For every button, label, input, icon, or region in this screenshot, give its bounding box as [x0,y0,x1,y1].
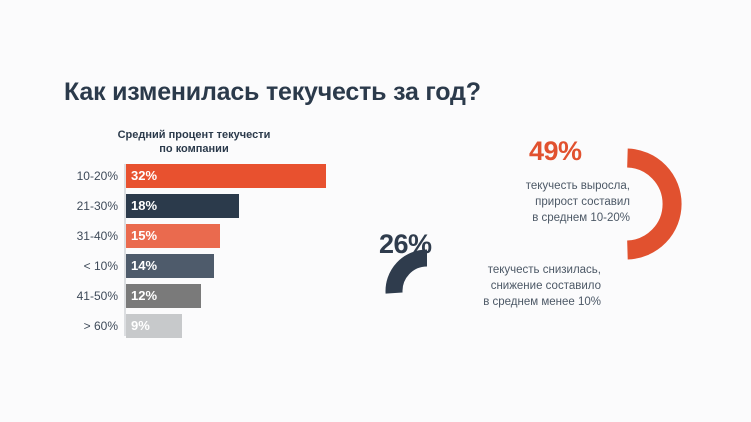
bar-track: 14% [126,254,214,278]
bar-value-label: 12% [131,284,157,308]
bar-chart: 10-20% 32% 21-30% 18% 31-40% 15% < 10% [58,164,348,336]
bar-category-label: > 60% [58,314,118,338]
bar-value-label: 9% [131,314,150,338]
table-row: 10-20% 32% [58,164,348,188]
bar-value-label: 14% [131,254,157,278]
bar-track: 32% [126,164,326,188]
table-row: > 60% 9% [58,314,348,338]
bar-value-label: 32% [131,164,157,188]
bar-category-label: 10-20% [58,164,118,188]
chart-subtitle: Средний процент текучести по компании [96,128,292,156]
table-row: 31-40% 15% [58,224,348,248]
bar-category-label: 41-50% [58,284,118,308]
chart-subtitle-line1: Средний процент текучести [96,128,292,142]
table-row: 41-50% 12% [58,284,348,308]
bar-value-label: 18% [131,194,157,218]
table-row: 21-30% 18% [58,194,348,218]
page-title: Как изменилась текучесть за год? [64,78,481,107]
bar-track: 12% [126,284,201,308]
bar-category-label: < 10% [58,254,118,278]
bar-category-label: 31-40% [58,224,118,248]
donut-arc-increase-icon [566,144,686,264]
bar-value-label: 15% [131,224,157,248]
chart-axis-line [124,164,126,336]
bar-category-label: 21-30% [58,194,118,218]
bar-track: 18% [126,194,239,218]
infographic-canvas: Как изменилась текучесть за год? Средний… [0,0,751,422]
chart-subtitle-line2: по компании [96,142,292,156]
table-row: < 10% 14% [58,254,348,278]
donut-arc-decrease-icon [382,246,472,336]
bar-track: 15% [126,224,220,248]
bar-track: 9% [126,314,182,338]
